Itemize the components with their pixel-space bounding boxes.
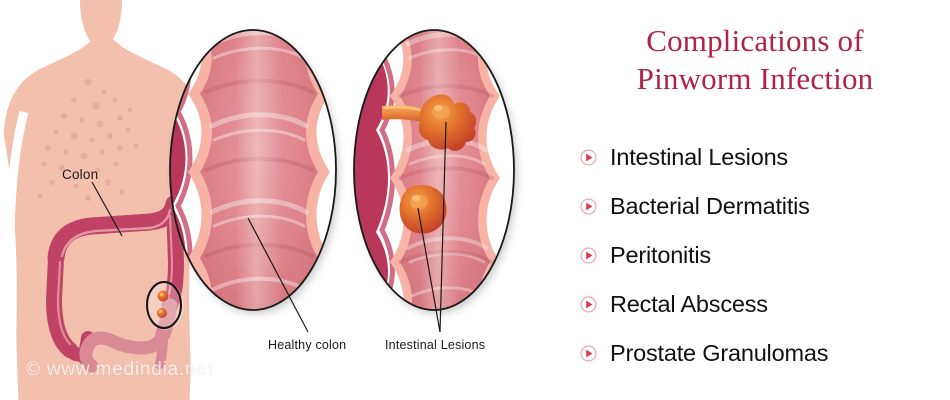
page-title: Complications of Pinworm Infection	[560, 22, 950, 98]
complications-list: Intestinal Lesions Bacterial Dermatitis	[580, 133, 950, 378]
circled-play-arrow-icon	[580, 247, 597, 264]
complication-label: Intestinal Lesions	[610, 144, 788, 171]
circled-play-arrow-icon	[580, 345, 597, 362]
circled-play-arrow-icon	[580, 296, 597, 313]
label-colon: Colon	[62, 167, 98, 182]
list-item: Rectal Abscess	[580, 280, 950, 329]
list-item: Prostate Granulomas	[580, 329, 950, 378]
label-intestinal-lesions: Intestinal Lesions	[385, 338, 485, 352]
list-item: Peritonitis	[580, 231, 950, 280]
complication-label: Bacterial Dermatitis	[610, 193, 810, 220]
rectum-lesion-highlight-circle	[147, 282, 184, 330]
complication-label: Rectal Abscess	[610, 291, 768, 318]
complication-label: Peritonitis	[610, 242, 711, 269]
watermark-medindia: © www.medindia.net	[26, 359, 214, 381]
text-panel: Complications of Pinworm Infection Intes…	[560, 0, 950, 400]
list-item: Bacterial Dermatitis	[580, 182, 950, 231]
circled-play-arrow-icon	[580, 149, 597, 166]
page-title-line-1: Complications of	[560, 22, 950, 60]
circled-play-arrow-icon	[580, 198, 597, 215]
complication-label: Prostate Granulomas	[610, 340, 828, 367]
illustration-panel: Colon Healthy colon Intestinal Lesions ©…	[0, 0, 560, 400]
lesion-mass-lower	[400, 185, 447, 234]
list-item: Intestinal Lesions	[580, 133, 950, 182]
infographic-root: Colon Healthy colon Intestinal Lesions ©…	[0, 0, 950, 400]
page-title-line-2: Pinworm Infection	[560, 60, 950, 98]
label-healthy-colon: Healthy colon	[268, 338, 346, 352]
